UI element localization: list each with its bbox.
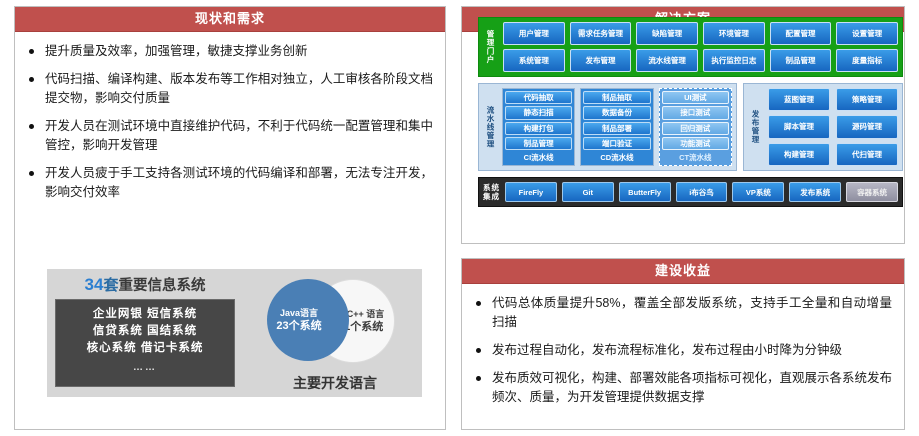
ct-step-ui-test[interactable]: UI测试 bbox=[662, 91, 729, 104]
integration-button-vp-system[interactable]: VP系统 bbox=[732, 182, 784, 202]
venn-caption: 主要开发语言 bbox=[249, 373, 421, 393]
systems-title-rest: 重要信息系统 bbox=[118, 278, 205, 294]
release-button-strategy-management[interactable]: 策略管理 bbox=[836, 88, 898, 111]
ci-step-code-extract[interactable]: 代码抽取 bbox=[505, 91, 572, 104]
list-item: 开发人员在测试环境中直接维护代码，不利于代码统一配置管理和集中管控，影响开发管理 bbox=[27, 117, 433, 155]
benefits-bullet-list: 代码总体质量提升58%，覆盖全部发版系统，支持手工全量和自动增量扫描 发布过程自… bbox=[474, 294, 892, 407]
important-systems-title: 34套重要信息系统 bbox=[55, 277, 235, 294]
list-item: 信贷系统 国结系统 bbox=[60, 323, 230, 340]
pipeline-management-label: 流水线管理 bbox=[483, 88, 498, 166]
release-button-grid: 蓝图管理 策略管理 脚本管理 源码管理 构建管理 代扫管理 bbox=[768, 88, 898, 166]
portal-button-environment-management[interactable]: 环境管理 bbox=[703, 22, 765, 45]
ci-step-artifact-management[interactable]: 制品管理 bbox=[505, 137, 572, 150]
portal-button-system-management[interactable]: 系统管理 bbox=[503, 49, 565, 72]
release-button-script-management[interactable]: 脚本管理 bbox=[768, 115, 830, 138]
pipeline-ct-label: CT流水线 bbox=[662, 152, 729, 163]
pipeline-cd-label: CD流水线 bbox=[583, 152, 650, 163]
panel-title-current-status: 现状和需求 bbox=[15, 7, 445, 32]
integration-button-container-system[interactable]: 容器系统 bbox=[846, 182, 898, 202]
list-item: 代码总体质量提升58%，覆盖全部发版系统，支持手工全量和自动增量扫描 bbox=[474, 294, 892, 332]
ci-step-static-scan[interactable]: 静态扫描 bbox=[505, 106, 572, 119]
release-button-blueprint-management[interactable]: 蓝图管理 bbox=[768, 88, 830, 111]
integration-button-butterfly[interactable]: ButterFly bbox=[619, 182, 671, 202]
ci-step-build-package[interactable]: 构建打包 bbox=[505, 122, 572, 135]
venn-diagram: C/C++ 语言 11个系统 Java语言 23个系统 主要开发语言 bbox=[249, 277, 409, 363]
list-item: 提升质量及效率，加强管理，敏捷支撑业务创新 bbox=[27, 42, 433, 61]
panel-title-benefits: 建设收益 bbox=[462, 259, 904, 284]
ellipsis-text: …… bbox=[60, 357, 230, 376]
management-portal-block: 管理门户 用户管理 需求任务管理 缺陷管理 环境管理 配置管理 设置管理 系统管… bbox=[478, 17, 903, 77]
portal-button-release-management[interactable]: 发布管理 bbox=[570, 49, 632, 72]
pipeline-management-block: 流水线管理 代码抽取 静态扫描 构建打包 制品管理 CI流水线 制品抽取 数据备… bbox=[478, 83, 737, 171]
portal-button-pipeline-management[interactable]: 流水线管理 bbox=[636, 49, 698, 72]
panel-benefits: 建设收益 代码总体质量提升58%，覆盖全部发版系统，支持手工全量和自动增量扫描 … bbox=[461, 258, 905, 430]
pipeline-column-ci: 代码抽取 静态扫描 构建打包 制品管理 CI流水线 bbox=[502, 88, 575, 166]
solution-architecture-diagram: 管理门户 用户管理 需求任务管理 缺陷管理 环境管理 配置管理 设置管理 系统管… bbox=[478, 17, 903, 213]
portal-button-requirement-task-management[interactable]: 需求任务管理 bbox=[570, 22, 632, 45]
portal-button-user-management[interactable]: 用户管理 bbox=[503, 22, 565, 45]
list-item: 开发人员疲于手工支持各测试环境的代码编译和部署，无法专注开发，影响交付效率 bbox=[27, 164, 433, 202]
release-button-build-management[interactable]: 构建管理 bbox=[768, 143, 830, 166]
integration-button-firefly[interactable]: FireFly bbox=[505, 182, 557, 202]
cd-step-artifact-deploy[interactable]: 制品部署 bbox=[583, 122, 650, 135]
system-integration-label: 系统集成 bbox=[483, 182, 500, 202]
cd-step-artifact-extract[interactable]: 制品抽取 bbox=[583, 91, 650, 104]
release-button-code-scan-management[interactable]: 代扫管理 bbox=[836, 143, 898, 166]
important-systems-card: 34套重要信息系统 企业网银 短信系统 信贷系统 国结系统 核心系统 借记卡系统… bbox=[47, 269, 243, 397]
portal-button-metrics[interactable]: 度量指标 bbox=[836, 49, 898, 72]
pipeline-and-release-row: 流水线管理 代码抽取 静态扫描 构建打包 制品管理 CI流水线 制品抽取 数据备… bbox=[478, 83, 903, 171]
venn-java-label: Java语言 bbox=[280, 307, 318, 319]
management-portal-label: 管理门户 bbox=[483, 22, 498, 72]
system-integration-block: 系统集成 FireFly Git ButterFly i布谷鸟 VP系统 发布系… bbox=[478, 177, 903, 207]
ct-step-function-test[interactable]: 功能测试 bbox=[662, 137, 729, 150]
important-systems-listbox: 企业网银 短信系统 信贷系统 国结系统 核心系统 借记卡系统 …… bbox=[55, 299, 235, 387]
systems-infographic: 34套重要信息系统 企业网银 短信系统 信贷系统 国结系统 核心系统 借记卡系统… bbox=[47, 269, 422, 397]
ct-step-interface-test[interactable]: 接口测试 bbox=[662, 106, 729, 119]
list-item: 代码扫描、编译构建、版本发布等工作相对独立，人工审核各阶段文档提交物，影响交付质… bbox=[27, 70, 433, 108]
pipeline-ci-label: CI流水线 bbox=[505, 152, 572, 163]
pipeline-columns: 代码抽取 静态扫描 构建打包 制品管理 CI流水线 制品抽取 数据备份 制品部署… bbox=[502, 88, 732, 166]
list-item: 企业网银 短信系统 bbox=[60, 306, 230, 323]
management-portal-button-grid: 用户管理 需求任务管理 缺陷管理 环境管理 配置管理 设置管理 系统管理 发布管… bbox=[503, 22, 898, 72]
release-management-label: 发布管理 bbox=[748, 88, 763, 166]
portal-button-config-management[interactable]: 配置管理 bbox=[770, 22, 832, 45]
venn-java-value: 23个系统 bbox=[276, 319, 321, 333]
portal-button-artifact-management[interactable]: 制品管理 bbox=[770, 49, 832, 72]
cd-step-port-verify[interactable]: 端口验证 bbox=[583, 137, 650, 150]
portal-button-settings-management[interactable]: 设置管理 bbox=[836, 22, 898, 45]
panel-body-benefits: 代码总体质量提升58%，覆盖全部发版系统，支持手工全量和自动增量扫描 发布过程自… bbox=[462, 284, 904, 422]
language-venn-card: C/C++ 语言 11个系统 Java语言 23个系统 主要开发语言 bbox=[243, 269, 422, 397]
system-integration-button-row: FireFly Git ButterFly i布谷鸟 VP系统 发布系统 容器系… bbox=[505, 182, 898, 202]
pipeline-column-cd: 制品抽取 数据备份 制品部署 端口验证 CD流水线 bbox=[580, 88, 653, 166]
list-item: 核心系统 借记卡系统 bbox=[60, 340, 230, 357]
panel-current-status: 现状和需求 提升质量及效率，加强管理，敏捷支撑业务创新 代码扫描、编译构建、版本… bbox=[14, 6, 446, 430]
integration-button-release-system[interactable]: 发布系统 bbox=[789, 182, 841, 202]
release-management-block: 发布管理 蓝图管理 策略管理 脚本管理 源码管理 构建管理 代扫管理 bbox=[743, 83, 903, 171]
panel-body-current-status: 提升质量及效率，加强管理，敏捷支撑业务创新 代码扫描、编译构建、版本发布等工作相… bbox=[15, 32, 445, 217]
release-button-source-code-management[interactable]: 源码管理 bbox=[836, 115, 898, 138]
list-item: 发布过程自动化，发布流程标准化，发布过程由小时降为分钟级 bbox=[474, 341, 892, 360]
portal-button-defect-management[interactable]: 缺陷管理 bbox=[636, 22, 698, 45]
cd-step-data-backup[interactable]: 数据备份 bbox=[583, 106, 650, 119]
current-status-bullet-list: 提升质量及效率，加强管理，敏捷支撑业务创新 代码扫描、编译构建、版本发布等工作相… bbox=[27, 42, 433, 202]
systems-count: 34 bbox=[85, 275, 104, 294]
integration-button-git[interactable]: Git bbox=[562, 182, 614, 202]
portal-button-execution-monitor-log[interactable]: 执行监控日志 bbox=[703, 49, 765, 72]
list-item: 发布质效可视化，构建、部署效能各项指标可视化，直观展示各系统发布频次、质量，为开… bbox=[474, 369, 892, 407]
pipeline-column-ct: UI测试 接口测试 回归测试 功能测试 CT流水线 bbox=[659, 88, 732, 166]
integration-button-cuckoo[interactable]: i布谷鸟 bbox=[676, 182, 728, 202]
ct-step-regression-test[interactable]: 回归测试 bbox=[662, 122, 729, 135]
slide-root: 现状和需求 提升质量及效率，加强管理，敏捷支撑业务创新 代码扫描、编译构建、版本… bbox=[0, 0, 919, 436]
systems-unit: 套 bbox=[103, 277, 118, 294]
venn-circle-java: Java语言 23个系统 bbox=[267, 279, 349, 361]
panel-solution: 解决方案 管理门户 用户管理 需求任务管理 缺陷管理 环境管理 配置管理 设置管… bbox=[461, 6, 905, 244]
